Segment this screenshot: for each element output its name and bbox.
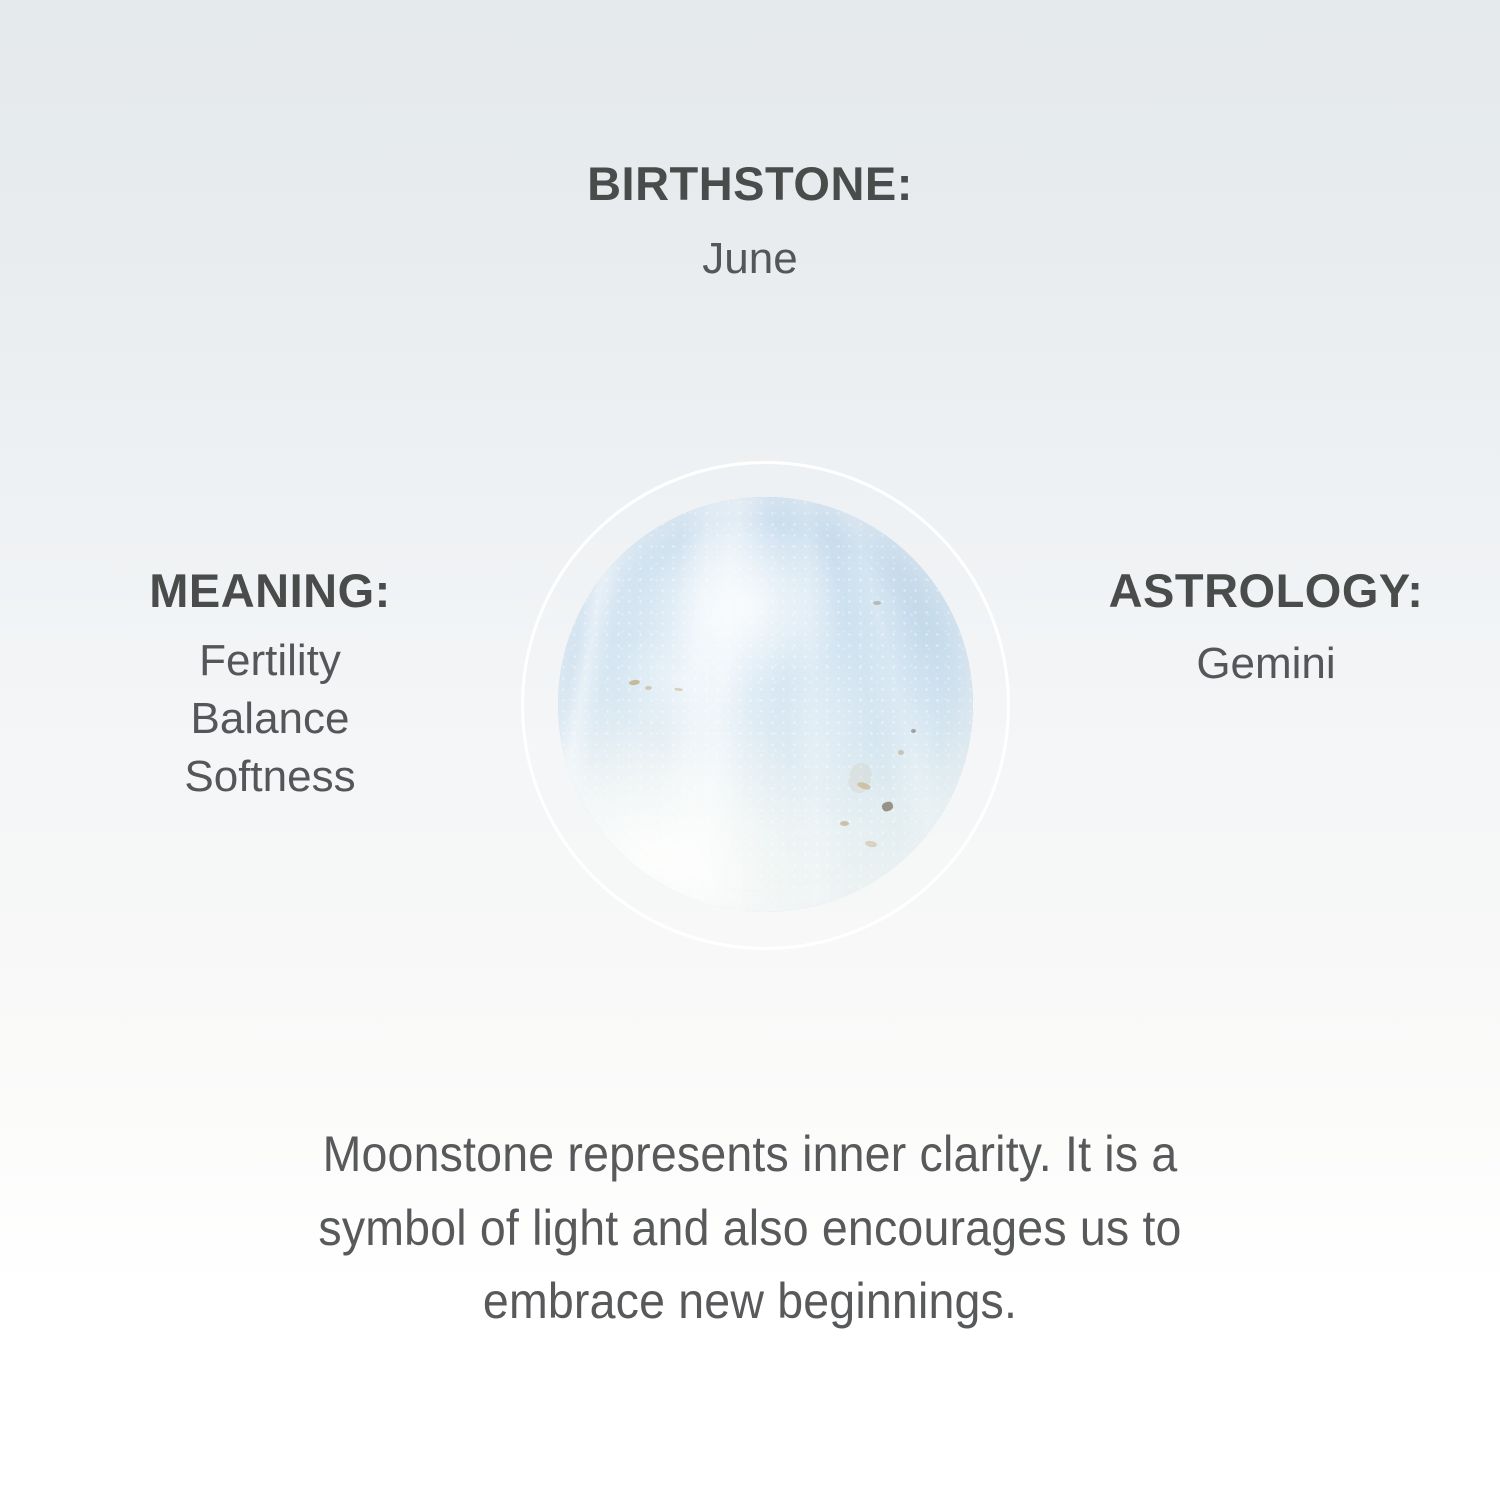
gemstone-medallion: [521, 461, 1010, 950]
gemstone-inclusion: [873, 601, 881, 605]
gemstone-inclusion: [645, 686, 652, 690]
meaning-label: MEANING:: [70, 565, 470, 618]
gemstone-rim-shading: [558, 497, 973, 912]
description-text: Moonstone represents inner clarity. It i…: [252, 1118, 1247, 1339]
meaning-item: Balance: [70, 690, 470, 748]
birthstone-info-card: BIRTHSTONE: June MEANING: Fertility Bala…: [0, 0, 1500, 1500]
meaning-block: MEANING: Fertility Balance Softness: [70, 565, 470, 806]
birthstone-label: BIRTHSTONE:: [0, 158, 1500, 211]
meaning-item: Softness: [70, 748, 470, 806]
birthstone-block: BIRTHSTONE: June: [0, 158, 1500, 290]
meaning-item: Fertility: [70, 632, 470, 690]
meaning-list: Fertility Balance Softness: [70, 632, 470, 806]
moonstone-photo: [558, 497, 973, 912]
astrology-label: ASTROLOGY:: [1066, 565, 1466, 618]
astrology-value: Gemini: [1066, 632, 1466, 696]
gemstone-inclusion: [840, 821, 849, 826]
astrology-block: ASTROLOGY: Gemini: [1066, 565, 1466, 695]
birthstone-value: June: [0, 227, 1500, 291]
